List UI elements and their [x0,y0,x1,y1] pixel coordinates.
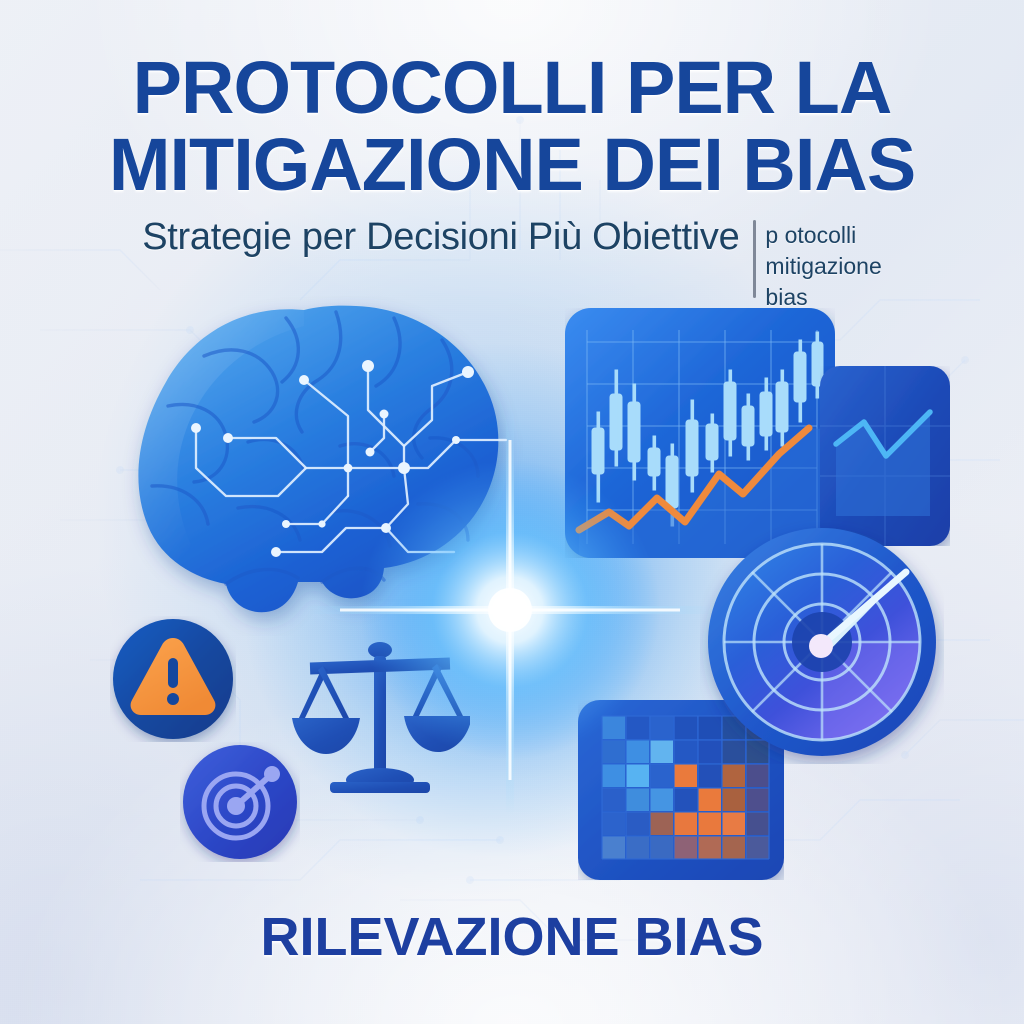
poster-canvas: PROTOCOLLI PER LA MITIGAZIONE DEI BIAS S… [0,0,1024,1024]
header-block: PROTOCOLLI PER LA MITIGAZIONE DEI BIAS S… [0,52,1024,313]
radar-gauge-icon[interactable] [700,520,944,764]
line-chart-panel[interactable] [820,366,950,546]
subtitle-row: Strategie per Decisioni Più Obiettive p … [0,216,1024,312]
gauge-center-cap [809,634,833,658]
side-note-line-3: bias [765,282,881,313]
light-burst-icon [300,400,720,820]
target-radar-icon[interactable] [180,742,300,862]
title-line-2: MITIGAZIONE DEI BIAS [0,129,1024,200]
side-note-line-1: p otocolli [765,220,881,251]
subtitle: Strategie per Decisioni Più Obiettive [142,216,739,259]
warning-triangle-icon[interactable] [110,616,236,742]
side-note-lines: p otocolli mitigazione bias [765,220,881,312]
side-note-line-2: mitigazione [765,251,881,282]
footer-caption: RILEVAZIONE BIAS [0,906,1024,968]
side-note-divider [753,220,756,298]
title-line-1: PROTOCOLLI PER LA [0,52,1024,123]
side-note: p otocolli mitigazione bias [753,220,881,312]
